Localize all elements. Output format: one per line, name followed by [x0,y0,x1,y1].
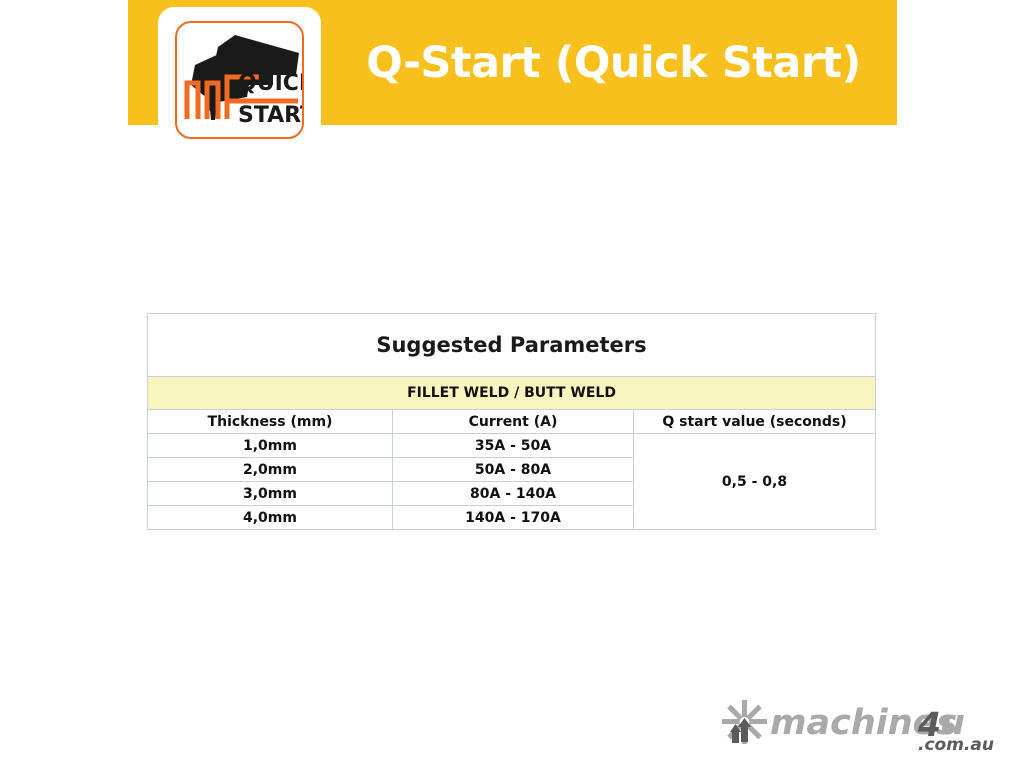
quick-start-logo-card: QUICK START [158,7,321,152]
quick-start-logo-icon: QUICK START [177,23,304,139]
weld-type-band: FILLET WELD / BUTT WELD [148,377,876,410]
cell-thickness: 3,0mm [148,482,393,506]
table-title-row: Suggested Parameters [148,314,876,377]
cell-current: 80A - 140A [393,482,634,506]
watermark-domain: .com.au [918,735,994,754]
logo-text-quick: QUICK [238,71,304,96]
table-row: 1,0mm 35A - 50A 0,5 - 0,8 [148,434,876,458]
cell-thickness: 2,0mm [148,458,393,482]
logo-text-start: START [238,103,304,128]
snowflake-icon [722,700,767,744]
table-header-row: Thickness (mm) Current (A) Q start value… [148,410,876,434]
quick-start-logo-frame: QUICK START [175,21,304,139]
cell-current: 35A - 50A [393,434,634,458]
column-header-qstart: Q start value (seconds) [634,410,876,434]
column-header-thickness: Thickness (mm) [148,410,393,434]
page-title: Q-Start (Quick Start) [330,0,897,125]
machines4u-watermark: machines 4 u .com.au [718,698,1008,754]
cell-current: 140A - 170A [393,506,634,530]
column-header-current: Current (A) [393,410,634,434]
cell-thickness: 1,0mm [148,434,393,458]
cell-qstart-value: 0,5 - 0,8 [634,434,876,530]
machines4u-logo: machines 4 u .com.au [718,698,1008,754]
cell-current: 50A - 80A [393,458,634,482]
cell-thickness: 4,0mm [148,506,393,530]
table-band-row: FILLET WELD / BUTT WELD [148,377,876,410]
table-title: Suggested Parameters [148,314,876,377]
suggested-parameters-table: Suggested Parameters FILLET WELD / BUTT … [147,313,876,530]
